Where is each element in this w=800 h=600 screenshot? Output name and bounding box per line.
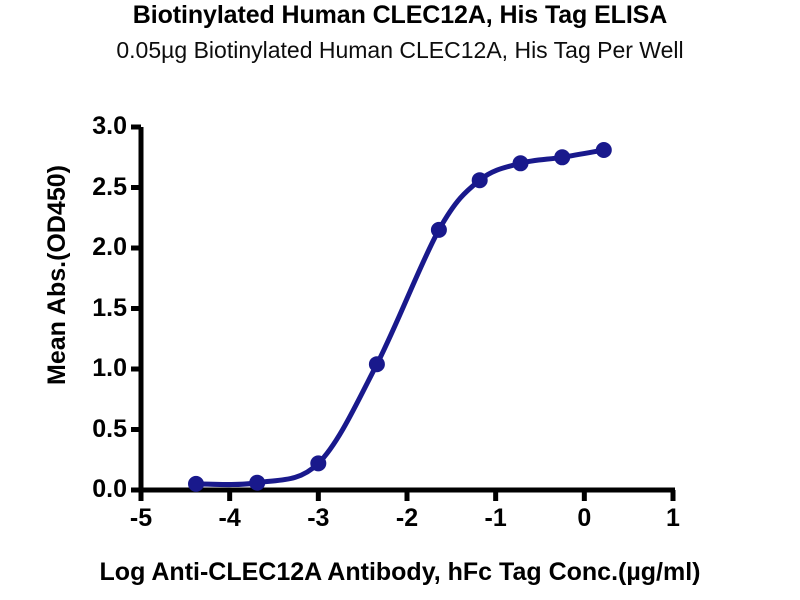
data-point-0[interactable] [188,476,204,492]
y-tick-label: 0.0 [57,477,127,502]
data-point-7[interactable] [554,149,570,165]
data-series-layer [188,142,612,492]
data-point-5[interactable] [472,172,488,188]
chart-figure: Biotinylated Human CLEC12A, His Tag ELIS… [0,0,800,600]
x-tick-label: -4 [210,506,250,531]
plot-area: 0.00.51.01.52.02.53.0 -5-4-3-2-101 [0,0,800,600]
y-tick-label: 1.5 [57,296,127,321]
x-tick-label: -3 [298,506,338,531]
y-tick-label: 2.0 [57,235,127,260]
y-tick-label: 0.5 [57,417,127,442]
x-tick-label: -2 [387,506,427,531]
x-tick-label: -1 [476,506,516,531]
y-tick-label: 3.0 [57,114,127,139]
y-tick-label: 1.0 [57,356,127,381]
series-line-0 [196,150,604,485]
data-point-4[interactable] [431,222,447,238]
data-point-6[interactable] [513,155,529,171]
data-point-8[interactable] [596,142,612,158]
y-tick-label: 2.5 [57,175,127,200]
x-tick-label: -5 [121,506,161,531]
x-tick-label: 0 [564,506,604,531]
data-point-2[interactable] [310,455,326,471]
data-point-3[interactable] [369,356,385,372]
x-tick-label: 1 [653,506,693,531]
data-point-1[interactable] [249,475,265,491]
